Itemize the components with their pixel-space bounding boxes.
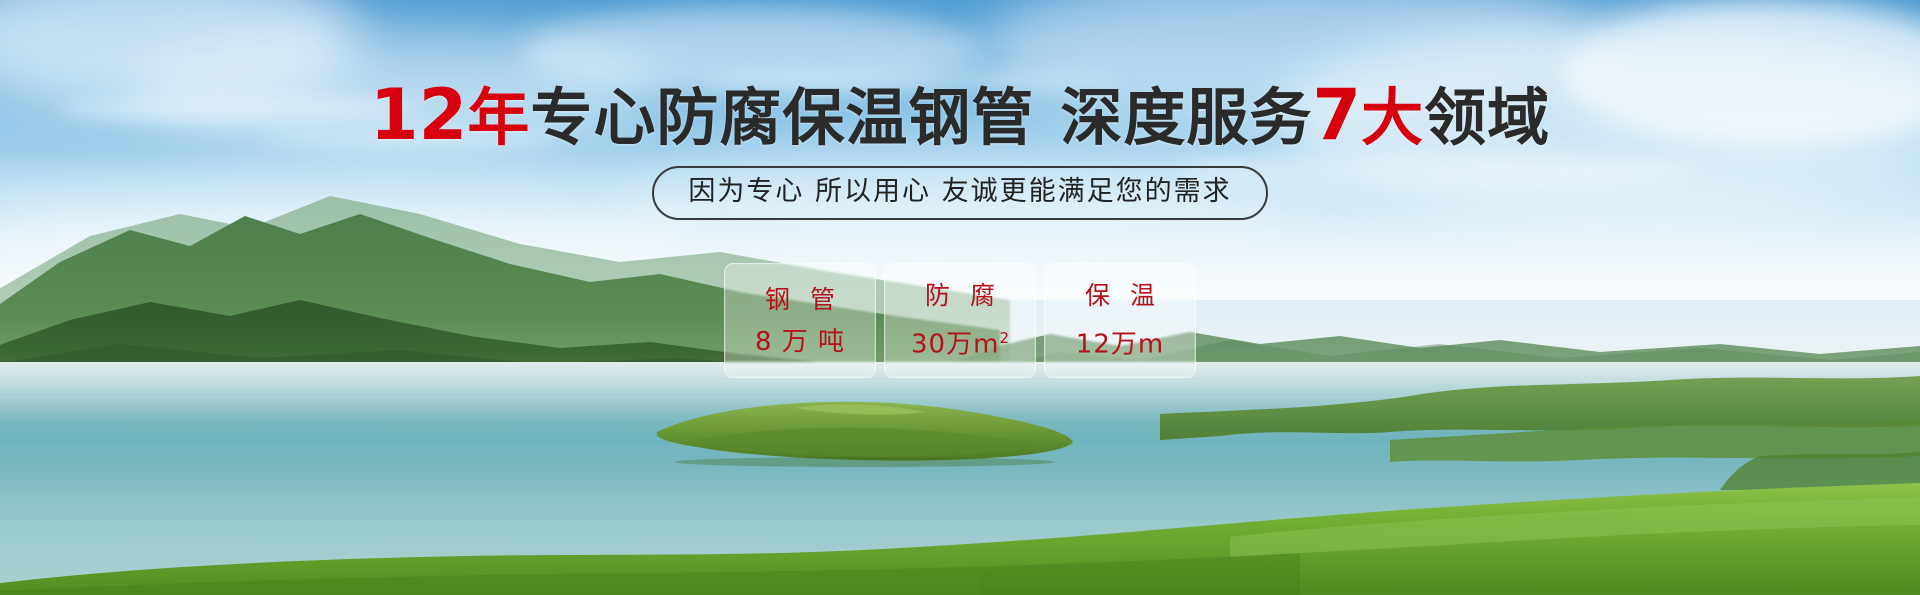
subtitle-container: 因为专心 所以用心 友诚更能满足您的需求 [0,166,1920,220]
headline-years-unit: 年 [467,81,530,154]
stat-card-insulation[interactable]: 保 温 12万m [1044,263,1196,378]
stat-card-value-text: 12万m [1076,330,1164,360]
stat-card-label: 防 腐 [919,281,1001,311]
stat-card-label: 保 温 [1079,281,1161,311]
headline-fields-text: 领域 [1424,81,1550,154]
stat-card-value-text: 8 万 吨 [755,327,845,357]
stat-cards: 钢 管 8 万 吨 防 腐 30万m2 保 温 12万m [0,263,1920,378]
headline-years-number: 12 [370,74,467,156]
stat-card-value: 30万m2 [911,323,1009,360]
headline-fields-unit: 大 [1361,81,1424,154]
stat-card-value-text: 30万m [911,330,999,360]
stat-card-value-superscript: 2 [999,329,1009,347]
headline-main-text: 专心防腐保温钢管 [530,81,1034,154]
hero-banner: 12年专心防腐保温钢管深度服务7大领域 因为专心 所以用心 友诚更能满足您的需求… [0,0,1920,595]
stat-card-label: 钢 管 [759,285,841,315]
subtitle-pill: 因为专心 所以用心 友诚更能满足您的需求 [652,166,1267,220]
banner-content: 12年专心防腐保温钢管深度服务7大领域 因为专心 所以用心 友诚更能满足您的需求… [0,0,1920,595]
headline-service-text: 深度服务 [1060,81,1312,154]
headline-fields-number: 7 [1312,74,1361,156]
stat-card-value: 8 万 吨 [755,327,845,357]
stat-card-value: 12万m [1076,323,1164,360]
stat-card-steel-pipe[interactable]: 钢 管 8 万 吨 [724,263,876,378]
stat-card-anticorrosion[interactable]: 防 腐 30万m2 [884,263,1036,378]
headline: 12年专心防腐保温钢管深度服务7大领域 [0,84,1920,149]
